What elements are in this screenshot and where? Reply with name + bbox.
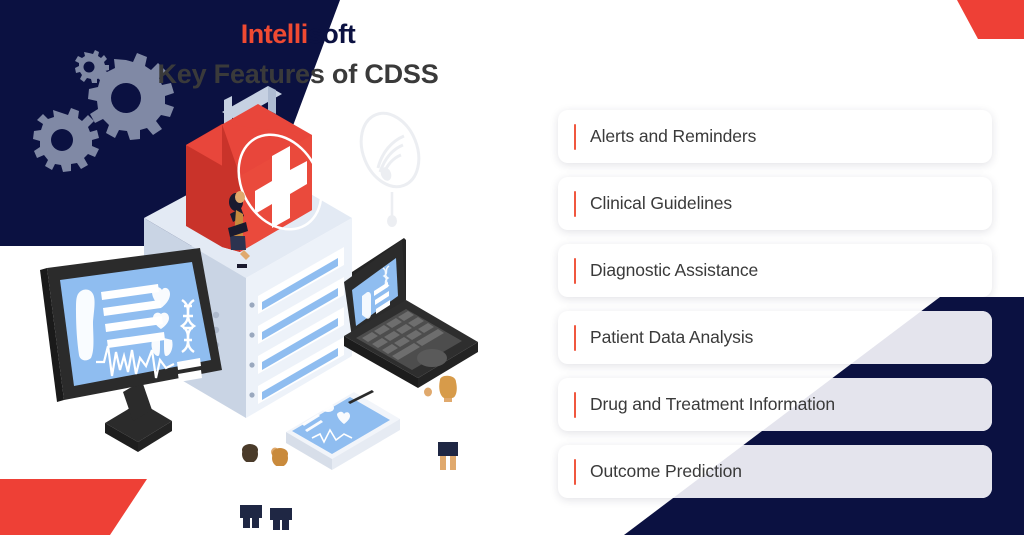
- accent-bar-icon: [574, 191, 576, 217]
- accent-bar-icon: [574, 392, 576, 418]
- infographic-canvas: Intellisoft Key Features of CDSS Alerts …: [0, 0, 1024, 535]
- feature-label: Patient Data Analysis: [590, 327, 753, 348]
- navy-shape-bottom-right: [0, 0, 1024, 535]
- accent-bar-icon: [574, 325, 576, 351]
- accent-bar-icon: [574, 124, 576, 150]
- accent-bar-icon: [574, 258, 576, 284]
- feature-label: Outcome Prediction: [590, 461, 742, 482]
- feature-label: Alerts and Reminders: [590, 126, 756, 147]
- feature-label: Drug and Treatment Information: [590, 394, 835, 415]
- feature-label: Clinical Guidelines: [590, 193, 732, 214]
- accent-bar-icon: [574, 459, 576, 485]
- feature-label: Diagnostic Assistance: [590, 260, 758, 281]
